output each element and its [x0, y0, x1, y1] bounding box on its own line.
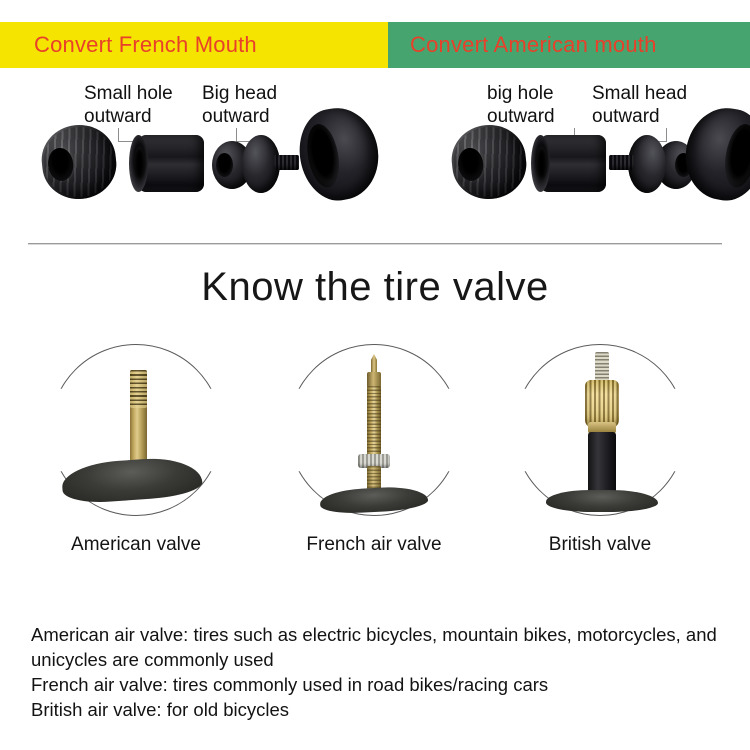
- header-banner: Convert French Mouth Convert American mo…: [0, 22, 750, 68]
- valve-caption-american: American valve: [36, 534, 236, 556]
- description-line-american-1: American air valve: tires such as electr…: [31, 622, 731, 647]
- banner-american-panel: Convert American mouth: [388, 22, 750, 68]
- valve-image-french: [274, 342, 474, 518]
- banner-french-label: Convert French Mouth: [34, 32, 257, 58]
- part-adapter-american: [604, 133, 696, 195]
- label-small-hole-outward: Small hole outward: [84, 82, 173, 128]
- valve-image-british: [500, 342, 700, 518]
- label-big-hole-outward: big hole outward: [487, 82, 555, 128]
- valve-description-block: American air valve: tires such as electr…: [31, 622, 731, 722]
- banner-french-panel: Convert French Mouth: [0, 22, 388, 68]
- valve-gallery: American valve French air valve British …: [0, 342, 750, 572]
- presta-rubber-base: [319, 485, 428, 515]
- part-sleeve-american: [540, 135, 606, 192]
- part-knurled-cap-nut-american: [448, 121, 529, 202]
- description-line-french: French air valve: tires commonly used in…: [31, 672, 731, 697]
- valve-card-british: British valve: [500, 342, 700, 572]
- presta-upper-stem: [367, 386, 381, 458]
- page-title: Know the tire valve: [0, 265, 750, 310]
- part-adapter-french: [212, 133, 304, 195]
- section-divider: [28, 243, 722, 245]
- adapter-stem: [609, 155, 634, 170]
- adapter-bore: [216, 153, 233, 177]
- part-knurled-cap-nut-french: [38, 121, 119, 202]
- valve-caption-french: French air valve: [274, 534, 474, 556]
- description-line-british: British air valve: for old bicycles: [31, 697, 731, 722]
- woods-rubber-stem: [588, 432, 616, 498]
- description-line-american-2: unicycles are commonly used: [31, 647, 731, 672]
- part-sleeve-french: [138, 135, 204, 192]
- valve-caption-british: British valve: [500, 534, 700, 556]
- schrader-rubber-base: [61, 455, 203, 505]
- woods-rubber-base: [546, 490, 658, 512]
- label-small-head-outward: Small head outward: [592, 82, 687, 128]
- valve-card-american: American valve: [36, 342, 236, 572]
- woods-brass-head: [585, 380, 619, 428]
- adapter-stem: [274, 155, 299, 170]
- part-tube-end-french: [293, 102, 386, 206]
- banner-american-label: Convert American mouth: [410, 32, 657, 58]
- valve-card-french: French air valve: [274, 342, 474, 572]
- adapter-parts-diagram: Small hole outward Big head outward big …: [0, 68, 750, 233]
- label-big-head-outward: Big head outward: [202, 82, 277, 128]
- schrader-thread: [130, 370, 147, 408]
- valve-image-american: [36, 342, 236, 518]
